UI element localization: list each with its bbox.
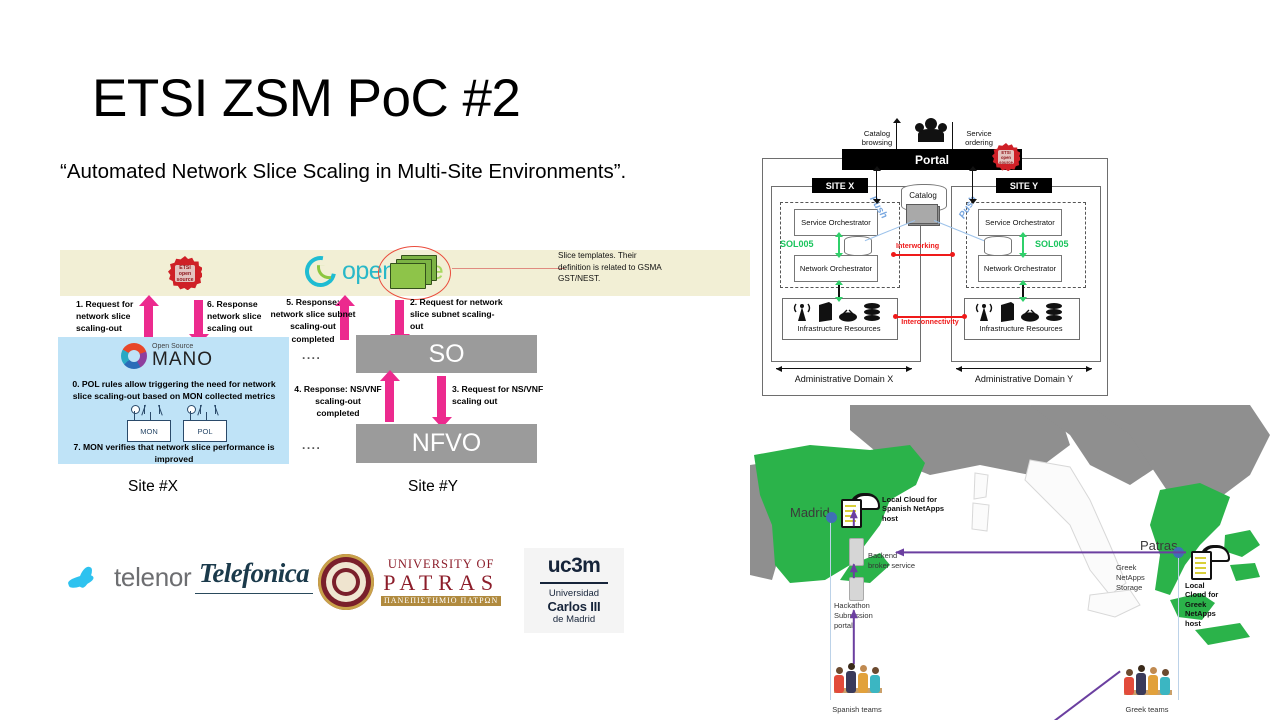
- backend-broker-icon: [849, 538, 864, 566]
- ellipsis-1: ....: [302, 348, 321, 362]
- site-y-infra-icons: [974, 302, 1063, 322]
- site-x-label: Site #X: [128, 478, 178, 496]
- uc3m-line-1: Universidad: [528, 588, 620, 599]
- uc3m-rule: [540, 582, 608, 584]
- pol-antenna-v-icon: [200, 405, 216, 414]
- pol-antenna-stem-icon: [190, 411, 191, 420]
- osm-logo-name: MANO: [152, 350, 213, 369]
- flow-diagram: ETSIopensource openslice Slice templates…: [55, 248, 675, 498]
- catalog-label: Catalog: [901, 191, 945, 201]
- portal-to-broker-arrow: [853, 564, 855, 578]
- architecture-diagram: Catalog browsing Service ordering Portal…: [756, 118, 1112, 400]
- site-x-infra-icons: [792, 302, 881, 322]
- patras-line-2: PATRAS: [381, 571, 501, 594]
- hackathon-portal-icon: [849, 577, 864, 601]
- step-2-label: 2. Request for network slice subnet scal…: [410, 296, 504, 333]
- telenor-logo-text: telenor: [114, 562, 191, 593]
- storage-icon: [863, 302, 881, 322]
- infrastructure-resources-y: Infrastructure Resources: [968, 324, 1074, 333]
- broker-to-cloud-arrow: [853, 510, 855, 526]
- uc3m-line-2: Carlos III: [528, 599, 620, 614]
- osm-mark-icon: [121, 343, 147, 369]
- catalog-browsing-label: Catalog browsing: [857, 129, 897, 148]
- partner-logos: telenor Telefonica UNIVERSITY OF PATRAS …: [60, 552, 580, 624]
- greek-to-broker-arrow: [896, 551, 1186, 553]
- storage-icon: [1045, 302, 1063, 322]
- admin-domain-y-label: Administrative Domain Y: [952, 374, 1096, 385]
- step-3-label: 3. Request for NS/VNF scaling out: [452, 383, 546, 407]
- arrow-step3-down: [437, 376, 446, 418]
- admin-domain-x-dimension: [776, 368, 912, 369]
- uc3m-line-3: de Madrid: [528, 614, 620, 625]
- telenor-mark-icon: [68, 564, 108, 592]
- spanish-cloud-label: Local Cloud for Spanish NetApps host: [882, 495, 954, 523]
- site-y-badge: SITE Y: [996, 178, 1052, 193]
- arrow-step2-down: [395, 300, 404, 335]
- mon-antenna-stem-icon: [134, 411, 135, 420]
- mon-antenna-stem2-icon: [150, 412, 151, 420]
- portal-site-x-arrow: [876, 170, 877, 200]
- nfvo-box: NFVO: [356, 424, 537, 463]
- interconnectivity-label: Interconnectivity: [894, 317, 966, 326]
- university-of-patras-logo: UNIVERSITY OF PATRAS ΠΑΝΕΠΙΣΤΗΜΙΟ ΠΑΤΡΩΝ: [318, 554, 501, 610]
- site-x-badge: SITE X: [812, 178, 868, 193]
- step-4-label: 4. Response: NS/VNF scaling-out complete…: [294, 383, 382, 420]
- mano-note-0: 0. POL rules allow triggering the need f…: [67, 378, 281, 402]
- spanish-teams-label: Spanish teams: [822, 705, 892, 715]
- backend-broker-label: Backend broker service: [868, 551, 920, 571]
- mon-antenna-circle-icon: [131, 405, 140, 414]
- interworking-label: Interworking: [896, 241, 939, 250]
- no-to-infra-arrow-y: [1022, 284, 1024, 298]
- arrow-step6-down: [194, 300, 203, 335]
- no-to-infra-arrow-x: [838, 284, 840, 298]
- template-note-leader-line: [452, 268, 565, 269]
- pol-antenna-circle-icon: [187, 405, 196, 414]
- etsi-seal-icon: ETSIopensource: [168, 256, 202, 290]
- telefonica-logo-text: Telefonica: [195, 558, 313, 589]
- hackathon-portal-label: Hackathon Submission portal: [834, 601, 892, 630]
- patras-guide-line: [1178, 555, 1179, 700]
- admin-domain-y-dimension: [956, 368, 1092, 369]
- sol005-label-y: SOL005: [1035, 239, 1069, 249]
- madrid-marker: [826, 512, 837, 523]
- telefonica-rule: [195, 593, 313, 594]
- page-title: ETSI ZSM PoC #2: [92, 72, 520, 125]
- deployment-map: Madrid Patras Local Cloud for Spanish Ne…: [730, 405, 1280, 720]
- greek-cloud-label: Local Cloud for Greek NetApps host: [1185, 581, 1225, 628]
- server-icon: [999, 302, 1015, 322]
- pol-antenna-stem2-icon: [206, 412, 207, 420]
- patras-line-3: ΠΑΝΕΠΙΣΤΗΜΙΟ ΠΑΤΡΩΝ: [381, 596, 501, 606]
- sol005-arrow-y: [1022, 236, 1024, 254]
- sol005-label-x: SOL005: [780, 239, 814, 249]
- telenor-logo: telenor: [68, 562, 191, 593]
- site-x-network-orchestrator: Network Orchestrator: [794, 255, 878, 282]
- so-box: SO: [356, 335, 537, 373]
- template-note: Slice templates. Their definition is rel…: [558, 250, 663, 285]
- slice-template-highlight-ellipse: [378, 246, 451, 300]
- step-1-label: 1. Request for network slice scaling-out: [76, 298, 150, 335]
- uc3m-logo: uc3m Universidad Carlos III de Madrid: [524, 548, 624, 633]
- greek-local-cloud-icon: [1188, 545, 1230, 579]
- mano-panel: Open Source MANO 0. POL rules allow trig…: [58, 337, 289, 464]
- greek-storage-label: Greek NetApps Storage: [1116, 563, 1166, 592]
- greek-teams-icon: [1120, 657, 1176, 701]
- admin-domain-x-label: Administrative Domain X: [772, 374, 916, 385]
- etsi-seal-icon-arch: ETSIopensource: [992, 143, 1020, 171]
- antenna-icon: [792, 302, 812, 322]
- portal-site-y-arrow: [972, 170, 973, 200]
- greek-teams-label: Greek teams: [1112, 705, 1182, 715]
- interworking-line: [893, 254, 953, 256]
- madrid-label: Madrid: [790, 505, 830, 520]
- module-pol: POL: [183, 420, 227, 442]
- antenna-icon: [974, 302, 994, 322]
- sol005-arrow-x: [838, 236, 840, 254]
- slide-canvas: ETSI ZSM PoC #2 “Automated Network Slice…: [0, 0, 1280, 720]
- site-y-label: Site #Y: [408, 478, 458, 496]
- users-icon: [914, 118, 948, 144]
- site-y-local-catalog-db-icon: [984, 236, 1012, 256]
- patras-line-1: UNIVERSITY OF: [381, 558, 501, 571]
- mano-note-7: 7. MON verifies that network slice perfo…: [67, 441, 281, 465]
- infrastructure-resources-x: Infrastructure Resources: [786, 324, 892, 333]
- telefonica-logo: Telefonica: [195, 558, 313, 594]
- server-icon: [817, 302, 833, 322]
- router-icon: [838, 308, 858, 322]
- module-mon: MON: [127, 420, 171, 442]
- openslice-mark-icon: [299, 250, 342, 293]
- page-subtitle: “Automated Network Slice Scaling in Mult…: [60, 160, 626, 184]
- arrow-step4-up: [385, 380, 394, 422]
- spanish-teams-icon: [830, 655, 886, 699]
- router-icon: [1020, 308, 1040, 322]
- ellipsis-2: ....: [302, 438, 321, 452]
- spanish-local-cloud-icon: [838, 493, 880, 527]
- site-y-network-orchestrator: Network Orchestrator: [978, 255, 1062, 282]
- uc3m-mark-text: uc3m: [528, 554, 620, 578]
- mon-antenna-v-icon: [144, 405, 160, 414]
- osm-logo: Open Source MANO: [121, 343, 213, 369]
- step-5-label: 5. Response: network slice subnet scalin…: [269, 296, 357, 345]
- patras-seal-icon: [318, 554, 374, 610]
